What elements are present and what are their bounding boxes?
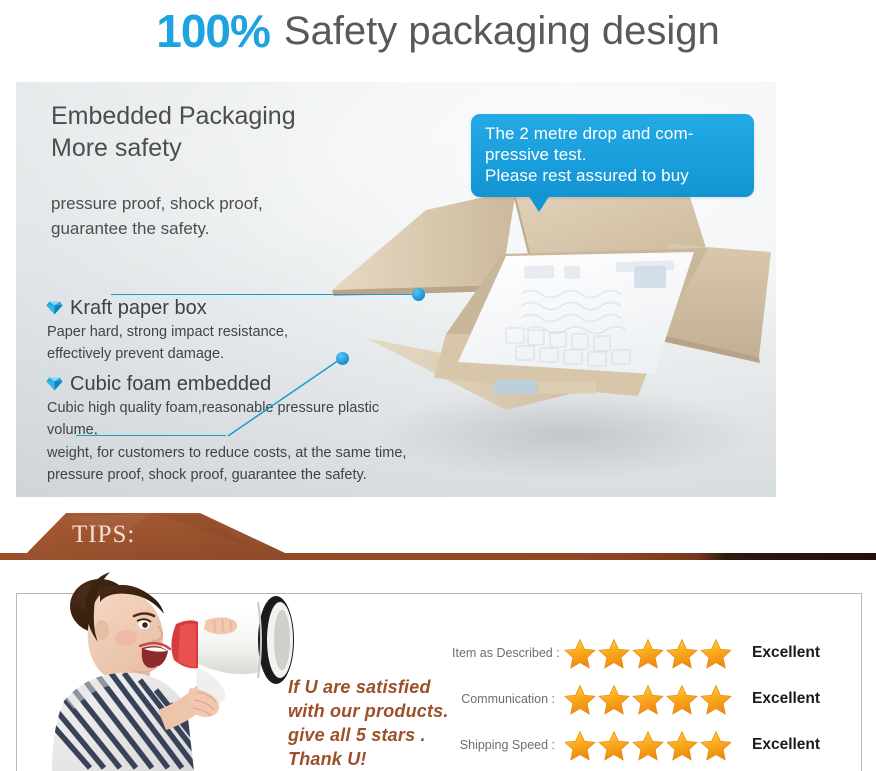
panel-subtitle: pressure proof, shock proof, guarantee t… [51, 192, 263, 241]
callout-line2: pressive test. [485, 144, 742, 165]
star-icon [632, 684, 664, 715]
diamond-gem-icon [46, 377, 63, 391]
star-icon [700, 638, 732, 669]
diamond-gem-icon [46, 301, 63, 315]
star-icon [666, 684, 698, 715]
feature-body-foam-line3: pressure proof, shock proof, guarantee t… [47, 464, 426, 486]
rating-row-communication: Communication : Excellent [452, 676, 852, 722]
panel-subtitle-line1: pressure proof, shock proof, [51, 192, 263, 217]
star-icon [598, 730, 630, 761]
ratings-list: Item as Described : Excellent Communicat… [452, 630, 852, 768]
rating-value-communication: Excellent [752, 690, 820, 708]
tips-banner: TIPS: [0, 503, 876, 565]
star-icon [598, 684, 630, 715]
page-headline: 100% Safety packaging design [0, 0, 876, 62]
satisfaction-note-line3: give all 5 stars . [288, 724, 449, 748]
drop-test-callout: The 2 metre drop and com- pressive test.… [471, 114, 754, 197]
rating-stars-shipping-speed [564, 730, 736, 761]
callout-tail [528, 195, 550, 212]
rating-row-shipping-speed: Shipping Speed : Excellent [452, 722, 852, 768]
blue-dot-marker-kraft [412, 288, 425, 301]
panel-title-line2: More safety [51, 132, 296, 164]
tips-label: TIPS: [72, 521, 135, 549]
woman-with-megaphone-photo [30, 568, 330, 771]
rating-label-shipping-speed: Shipping Speed : [452, 738, 564, 752]
leader-line-kraft [111, 294, 416, 295]
leader-line-foam-h [76, 435, 226, 436]
star-icon [700, 730, 732, 761]
star-icon [632, 638, 664, 669]
feature-heading-kraft-label: Kraft paper box [70, 296, 207, 320]
rating-value-shipping-speed: Excellent [752, 736, 820, 754]
feature-body-foam-line2: weight, for customers to reduce costs, a… [47, 442, 426, 464]
page-root: 100% Safety packaging design Embedded Pa… [0, 0, 876, 771]
feature-heading-kraft: Kraft paper box [46, 296, 426, 320]
callout-line3: Please rest assured to buy [485, 165, 742, 186]
feature-body-kraft-line1: Paper hard, strong impact resistance, [47, 321, 426, 343]
callout-line1: The 2 metre drop and com- [485, 123, 742, 144]
satisfaction-note-line4: Thank U! [288, 748, 449, 771]
rating-row-item-as-described: Item as Described : Excellent [452, 630, 852, 676]
blue-dot-marker-foam [336, 352, 349, 365]
panel-title: Embedded Packaging More safety [51, 100, 296, 164]
star-icon [598, 638, 630, 669]
satisfaction-note: If U are satisfied with our products. gi… [288, 676, 449, 771]
star-icon [700, 684, 732, 715]
panel-subtitle-line2: guarantee the safety. [51, 217, 263, 242]
star-icon [564, 730, 596, 761]
packaging-panel: Embedded Packaging More safety pressure … [16, 82, 776, 497]
satisfaction-note-line2: with our products. [288, 700, 449, 724]
star-icon [666, 730, 698, 761]
star-icon [564, 638, 596, 669]
panel-title-line1: Embedded Packaging [51, 100, 296, 132]
rating-label-item-as-described: Item as Described : [452, 646, 564, 660]
rating-stars-item-as-described [564, 638, 736, 669]
star-icon [666, 638, 698, 669]
star-icon [564, 684, 596, 715]
rating-value-item-as-described: Excellent [752, 644, 820, 662]
rating-label-communication: Communication : [452, 692, 564, 706]
leader-line-foam-diag [216, 354, 346, 440]
rating-stars-communication [564, 684, 736, 715]
star-icon [632, 730, 664, 761]
headline-text: Safety packaging design [284, 11, 720, 51]
satisfaction-note-line1: If U are satisfied [288, 676, 449, 700]
headline-percent: 100% [156, 8, 270, 54]
